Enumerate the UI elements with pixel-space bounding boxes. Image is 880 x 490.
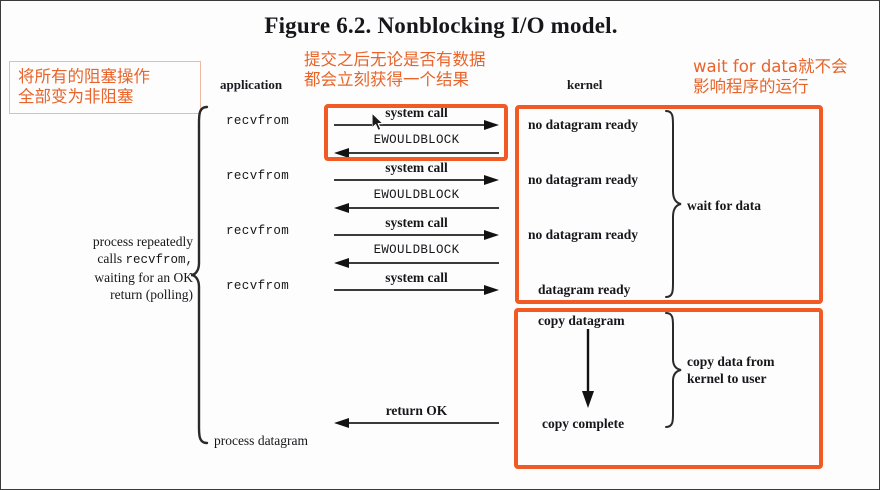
highlight-box-wait-for-data [515, 105, 823, 304]
arrow-system-call-2: system call [334, 161, 499, 183]
arrow-label-system-call-3: system call [334, 215, 499, 231]
column-header-kernel: kernel [567, 77, 602, 93]
arrow-label-system-call-2: system call [334, 160, 499, 176]
figure-title: Figure 6.2. Nonblocking I/O model. [1, 13, 880, 39]
process-polling-note: process repeatedly calls recvfrom, waiti… [53, 233, 193, 303]
recvfrom-label-4: recvfrom [226, 279, 289, 293]
recvfrom-label-1: recvfrom [226, 114, 289, 128]
recvfrom-label-3: recvfrom [226, 224, 289, 238]
arrow-return-ok: return OK [334, 404, 499, 426]
process-note-line-1: process repeatedly [93, 234, 193, 249]
figure-canvas: Figure 6.2. Nonblocking I/O model. 将所有的阻… [0, 0, 880, 490]
arrow-label-system-call-4: system call [334, 270, 499, 286]
process-note-recvfrom: recvfrom, [125, 253, 193, 267]
process-note-line-3: waiting for an OK [94, 270, 193, 285]
arrow-ewouldblock-2: EWOULDBLOCK [334, 189, 499, 211]
annotation-left: 将所有的阻塞操作 全部变为非阻塞 [9, 61, 201, 114]
arrow-ewouldblock-3: EWOULDBLOCK [334, 244, 499, 266]
process-note-line-4: return (polling) [110, 287, 193, 302]
annotation-right: wait for data就不会 影响程序的运行 [693, 57, 848, 97]
arrow-label-ewouldblock-3: EWOULDBLOCK [334, 243, 499, 257]
arrow-label-return-ok: return OK [334, 403, 499, 419]
process-note-calls: calls [97, 251, 122, 266]
process-datagram-note: process datagram [206, 432, 316, 449]
arrow-label-ewouldblock-2: EWOULDBLOCK [334, 188, 499, 202]
mouse-pointer-icon [372, 113, 386, 138]
column-header-application: application [220, 77, 282, 93]
annotation-top: 提交之后无论是否有数据 都会立刻获得一个结果 [304, 50, 486, 90]
highlight-box-copy-data [514, 308, 823, 469]
recvfrom-label-2: recvfrom [226, 169, 289, 183]
highlight-box-system-call [324, 104, 508, 161]
arrow-system-call-4: system call [334, 271, 499, 293]
arrow-system-call-3: system call [334, 216, 499, 238]
